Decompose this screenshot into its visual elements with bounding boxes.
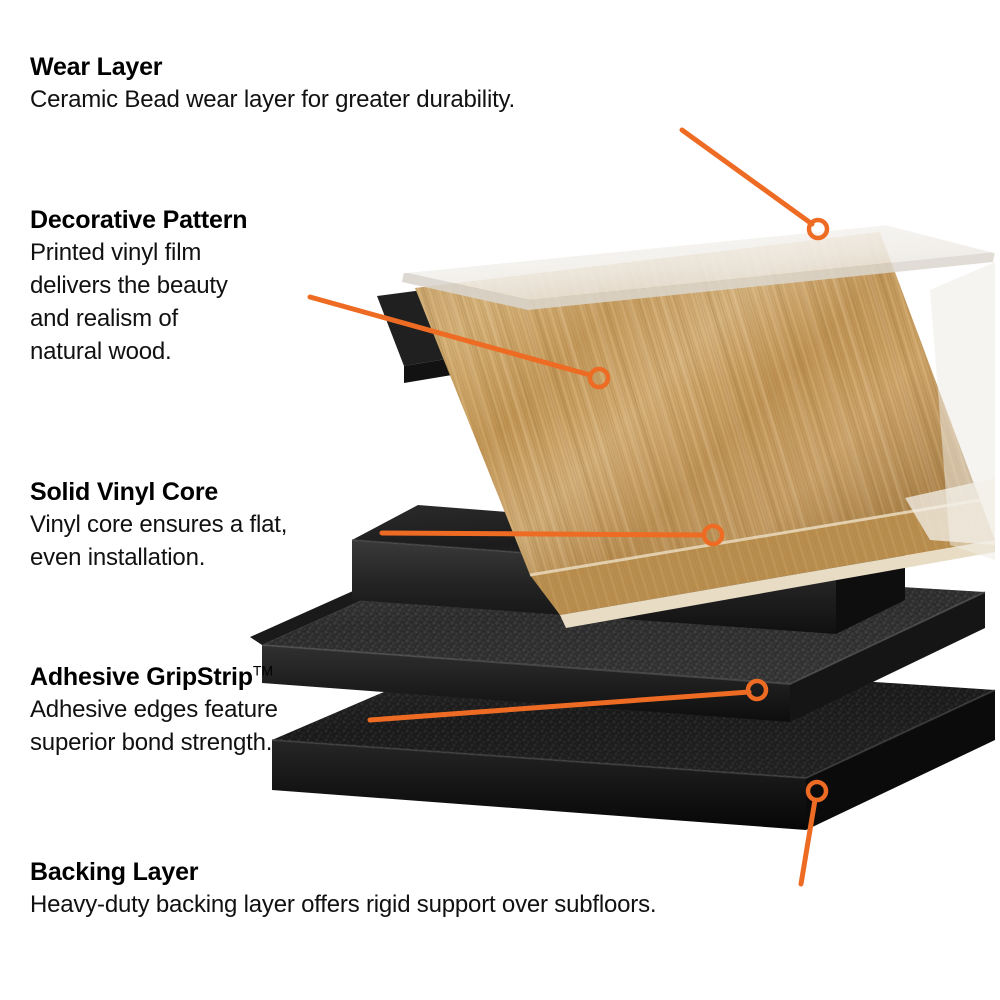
callout-title: Wear Layer	[30, 52, 515, 83]
callout-body: Heavy-duty backing layer offers rigid su…	[30, 888, 656, 921]
callout-backing-layer: Backing Layer Heavy-duty backing layer o…	[30, 857, 656, 921]
trademark-symbol: TM	[253, 663, 273, 679]
callout-solid-vinyl-core: Solid Vinyl Core Vinyl core ensures a fl…	[30, 477, 287, 574]
leader-line-wear	[682, 130, 812, 224]
callout-body: Printed vinyl film delivers the beauty a…	[30, 236, 247, 368]
callout-title: Solid Vinyl Core	[30, 477, 287, 508]
callout-title: Decorative Pattern	[30, 205, 247, 236]
callout-title: Backing Layer	[30, 857, 656, 888]
callout-adhesive-gripstrip: Adhesive GripStripTM Adhesive edges feat…	[30, 662, 278, 759]
callout-body: Vinyl core ensures a flat, even installa…	[30, 508, 287, 574]
layer-diagram-canvas: Wear Layer Ceramic Bead wear layer for g…	[0, 0, 1000, 1000]
callout-wear-layer: Wear Layer Ceramic Bead wear layer for g…	[30, 52, 515, 116]
callout-body: Ceramic Bead wear layer for greater dura…	[30, 83, 515, 116]
leader-line-core	[382, 533, 704, 535]
callout-decorative-pattern: Decorative Pattern Printed vinyl film de…	[30, 205, 247, 368]
callout-body: Adhesive edges feature superior bond str…	[30, 693, 278, 759]
callout-title: Adhesive GripStripTM	[30, 662, 278, 693]
